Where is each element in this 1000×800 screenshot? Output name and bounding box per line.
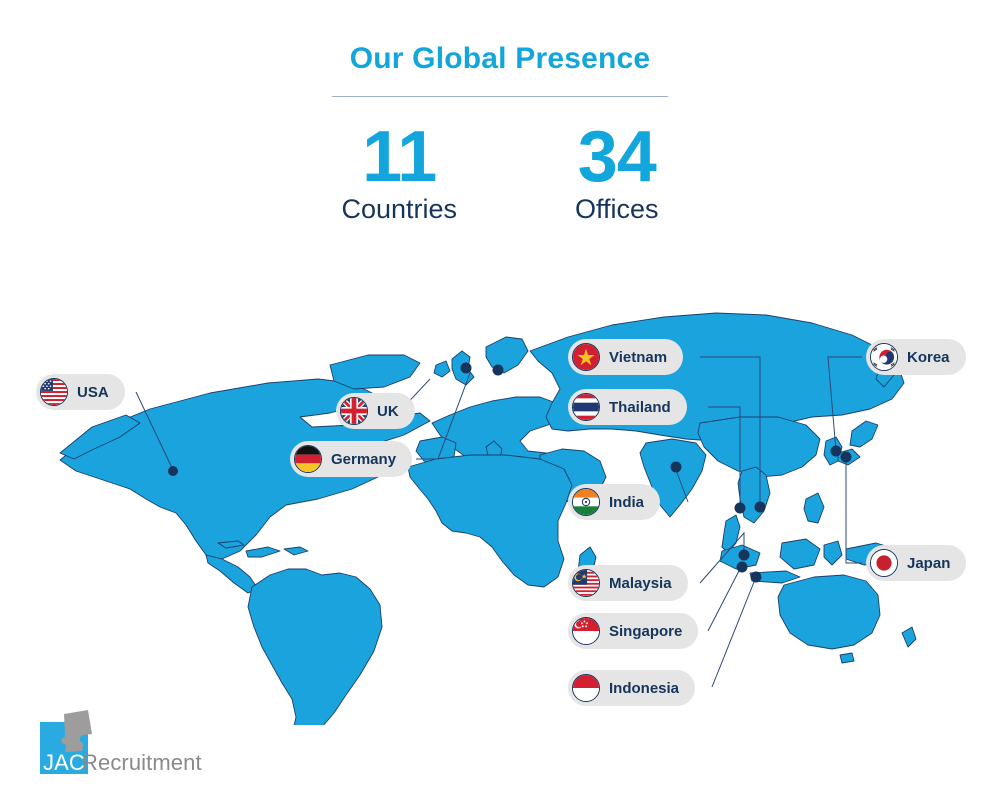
island-sulawesi xyxy=(824,541,842,565)
marker-korea xyxy=(831,446,842,457)
landmass-central-america xyxy=(206,555,258,593)
landmass-south-america xyxy=(248,569,382,725)
pill-germany-label: Germany xyxy=(331,452,396,467)
pill-vietnam-label: Vietnam xyxy=(609,350,667,365)
marker-uk xyxy=(461,363,472,374)
pill-germany[interactable]: Germany xyxy=(290,441,412,477)
marker-malaysia xyxy=(739,550,750,561)
flag-india-icon xyxy=(572,488,600,516)
page-title: Our Global Presence xyxy=(0,44,1000,74)
flag-indonesia-icon xyxy=(572,674,600,702)
marker-indonesia xyxy=(751,572,762,583)
pill-korea[interactable]: Korea xyxy=(866,339,966,375)
flag-japan-icon xyxy=(870,549,898,577)
marker-germany xyxy=(493,365,504,376)
landmass-africa xyxy=(408,455,572,587)
flag-vietnam-icon xyxy=(572,343,600,371)
pill-vietnam[interactable]: Vietnam xyxy=(568,339,683,375)
pill-uk[interactable]: UK xyxy=(336,393,415,429)
world-map xyxy=(0,255,1000,725)
island-philippines xyxy=(804,493,824,523)
stat-offices-label: Offices xyxy=(575,196,659,223)
pill-india[interactable]: India xyxy=(568,484,660,520)
pill-india-label: India xyxy=(609,495,644,510)
marker-india xyxy=(671,462,682,473)
pill-malaysia[interactable]: Malaysia xyxy=(568,565,688,601)
island-japan xyxy=(850,421,878,447)
pill-singapore[interactable]: Singapore xyxy=(568,613,698,649)
connector-indonesia xyxy=(712,577,756,687)
infographic-canvas: Our Global Presence 11 Countries 34 Offi… xyxy=(0,0,1000,800)
marker-thailand xyxy=(735,503,746,514)
jac-recruitment-logo: JAC Recruitment xyxy=(38,708,238,780)
pill-uk-label: UK xyxy=(377,404,399,419)
landmass-scandinavia xyxy=(486,337,528,373)
flag-germany-icon xyxy=(294,445,322,473)
flag-singapore-icon xyxy=(572,617,600,645)
stats-row: 11 Countries 34 Offices xyxy=(0,124,1000,223)
pill-indonesia-label: Indonesia xyxy=(609,681,679,696)
connector-singapore xyxy=(708,565,742,631)
stat-offices-value: 34 xyxy=(575,124,659,190)
landmass-greenland xyxy=(330,355,420,389)
stat-offices: 34 Offices xyxy=(575,124,659,223)
island-ireland xyxy=(434,361,450,377)
marker-singapore xyxy=(737,562,748,573)
pill-thailand-label: Thailand xyxy=(609,400,671,415)
landmass-china xyxy=(698,417,820,477)
pill-japan-label: Japan xyxy=(907,556,950,571)
flag-usa-icon xyxy=(40,378,68,406)
logo-jac-text: JAC xyxy=(43,752,85,774)
island-borneo xyxy=(780,539,820,569)
marker-vietnam xyxy=(755,502,766,513)
stat-countries-label: Countries xyxy=(341,196,457,223)
map-landmasses xyxy=(60,313,916,725)
island-caribbean-1 xyxy=(246,547,280,557)
pill-usa[interactable]: USA xyxy=(36,374,125,410)
logo-word-text: Recruitment xyxy=(82,752,202,774)
flag-thailand-icon xyxy=(572,393,600,421)
title-divider xyxy=(332,96,668,97)
pill-indonesia[interactable]: Indonesia xyxy=(568,670,695,706)
marker-usa xyxy=(168,466,178,476)
pill-singapore-label: Singapore xyxy=(609,624,682,639)
pill-japan[interactable]: Japan xyxy=(866,545,966,581)
flag-uk-icon xyxy=(340,397,368,425)
landmass-australia xyxy=(778,575,880,649)
island-tasmania xyxy=(840,653,854,663)
flag-korea-icon xyxy=(870,343,898,371)
island-caribbean-2 xyxy=(284,547,308,555)
stat-countries-value: 11 xyxy=(341,124,457,190)
pill-usa-label: USA xyxy=(77,385,109,400)
landmass-indochina xyxy=(738,467,770,523)
stat-countries: 11 Countries xyxy=(341,124,457,223)
flag-malaysia-icon xyxy=(572,569,600,597)
marker-japan xyxy=(841,452,852,463)
header: Our Global Presence xyxy=(0,44,1000,97)
island-new-zealand xyxy=(902,627,916,647)
pill-korea-label: Korea xyxy=(907,350,950,365)
pill-thailand[interactable]: Thailand xyxy=(568,389,687,425)
pill-malaysia-label: Malaysia xyxy=(609,576,672,591)
